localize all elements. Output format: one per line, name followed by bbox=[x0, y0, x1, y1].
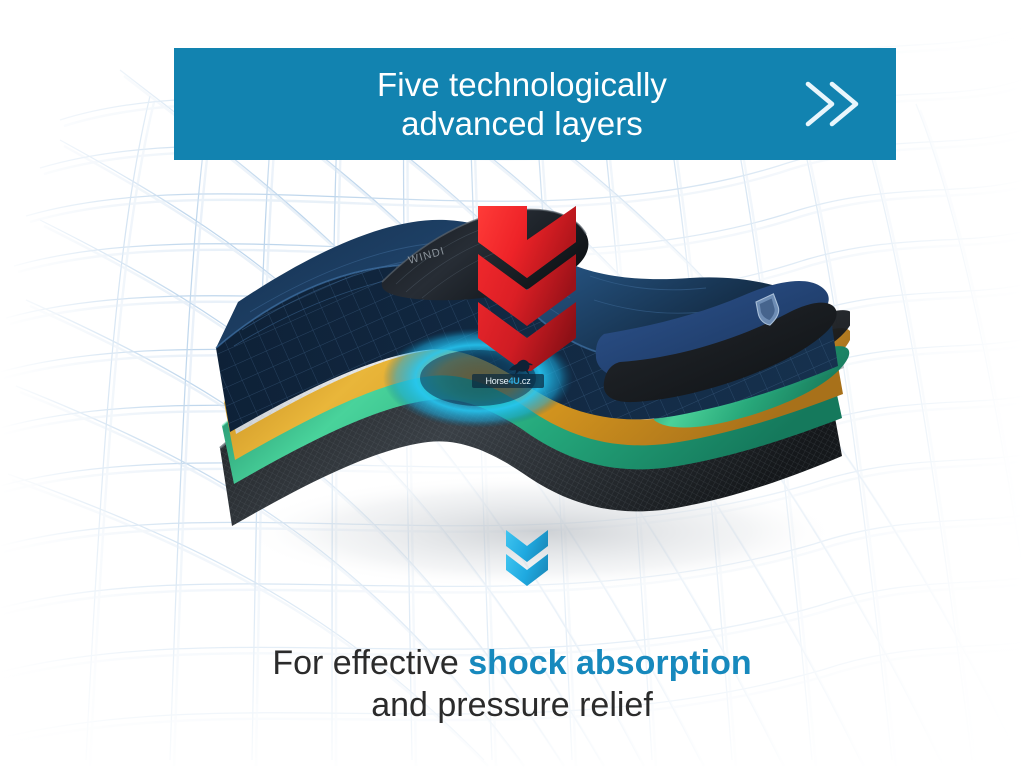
caption-block: For effective shock absorption and press… bbox=[0, 642, 1024, 726]
banner-title-line2: advanced layers bbox=[248, 104, 796, 143]
watermark-accent: 4U bbox=[509, 376, 520, 386]
caption-line2: and pressure relief bbox=[0, 684, 1024, 726]
caption-line1: For effective shock absorption bbox=[0, 642, 1024, 684]
poster-canvas: Five technologically advanced layers bbox=[0, 0, 1024, 768]
watermark-badge: Horse4U.cz bbox=[472, 374, 544, 388]
banner-title: Five technologically advanced layers bbox=[218, 65, 796, 143]
headline-banner: Five technologically advanced layers bbox=[174, 48, 896, 160]
watermark-prefix: Horse bbox=[485, 376, 508, 386]
watermark-text: Horse4U.cz bbox=[485, 376, 530, 386]
blue-down-chevrons-icon bbox=[500, 528, 554, 590]
caption-line1-prefix: For effective bbox=[272, 644, 468, 682]
double-chevron-right-icon bbox=[796, 69, 866, 139]
watermark-suffix: .cz bbox=[520, 376, 531, 386]
red-down-chevrons-icon bbox=[465, 196, 590, 371]
banner-title-line1: Five technologically bbox=[248, 65, 796, 104]
caption-highlight: shock absorption bbox=[468, 644, 751, 682]
